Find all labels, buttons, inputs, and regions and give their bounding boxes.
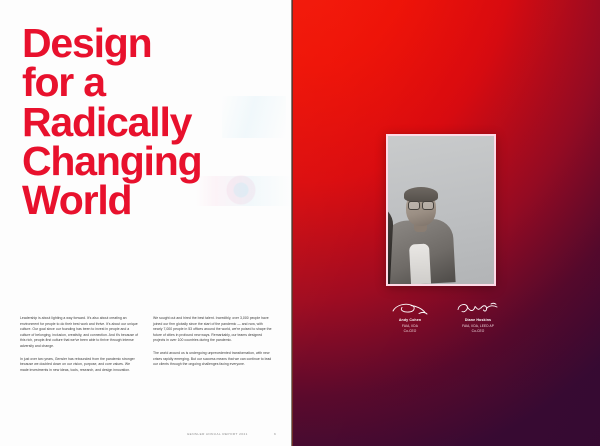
left-page: Design for a Radically Changing World Le… (0, 0, 292, 446)
signatory-title: Co-CEO (448, 329, 508, 333)
signatory-title: Co-CEO (380, 329, 440, 333)
signature-group: Andy Cohen FAIA, IIDA Co-CEO Diane Hoski… (380, 300, 508, 333)
signatory-andy-cohen: Andy Cohen FAIA, IIDA Co-CEO (380, 300, 440, 333)
person-left-eyeglasses-icon (408, 201, 434, 208)
page-footer: GENSLER ANNUAL REPORT 2021 3 (20, 432, 276, 436)
right-page: Andy Cohen FAIA, IIDA Co-CEO Diane Hoski… (292, 0, 600, 446)
person-left-shirt (409, 244, 431, 284)
portrait-frame (386, 134, 496, 286)
body-column-left: Leadership is about lighting a way forwa… (20, 316, 139, 373)
body-paragraph: Leadership is about lighting a way forwa… (20, 316, 139, 350)
signatory-credentials: FAIA, IIDA (380, 324, 440, 328)
signatory-credentials: FAIA, IIDA, LEED AP (448, 324, 508, 328)
body-paragraph: In just over two years, Gensler has rebo… (20, 357, 139, 374)
body-column-right: We sought out and hired the best talent.… (153, 316, 272, 373)
page-title: Design for a Radically Changing World (22, 24, 272, 221)
signatory-name: Andy Cohen (380, 318, 440, 322)
annual-report-spread: Design for a Radically Changing World Le… (0, 0, 600, 446)
person-left-hair (404, 187, 438, 202)
signatory-name: Diane Hoskins (448, 318, 508, 322)
body-copy: Leadership is about lighting a way forwa… (20, 316, 272, 373)
handwritten-signature-icon (448, 300, 508, 317)
signatory-diane-hoskins: Diane Hoskins FAIA, IIDA, LEED AP Co-CEO (448, 300, 508, 333)
co-ceo-portrait-photo (388, 136, 494, 284)
handwritten-signature-icon (380, 300, 440, 317)
footer-page-number: 3 (274, 432, 276, 436)
body-paragraph: We sought out and hired the best talent.… (153, 316, 272, 344)
footer-report-title: GENSLER ANNUAL REPORT 2021 (187, 432, 248, 436)
body-paragraph: The world around us is undergoing unprec… (153, 351, 272, 368)
book-spine (291, 0, 293, 446)
